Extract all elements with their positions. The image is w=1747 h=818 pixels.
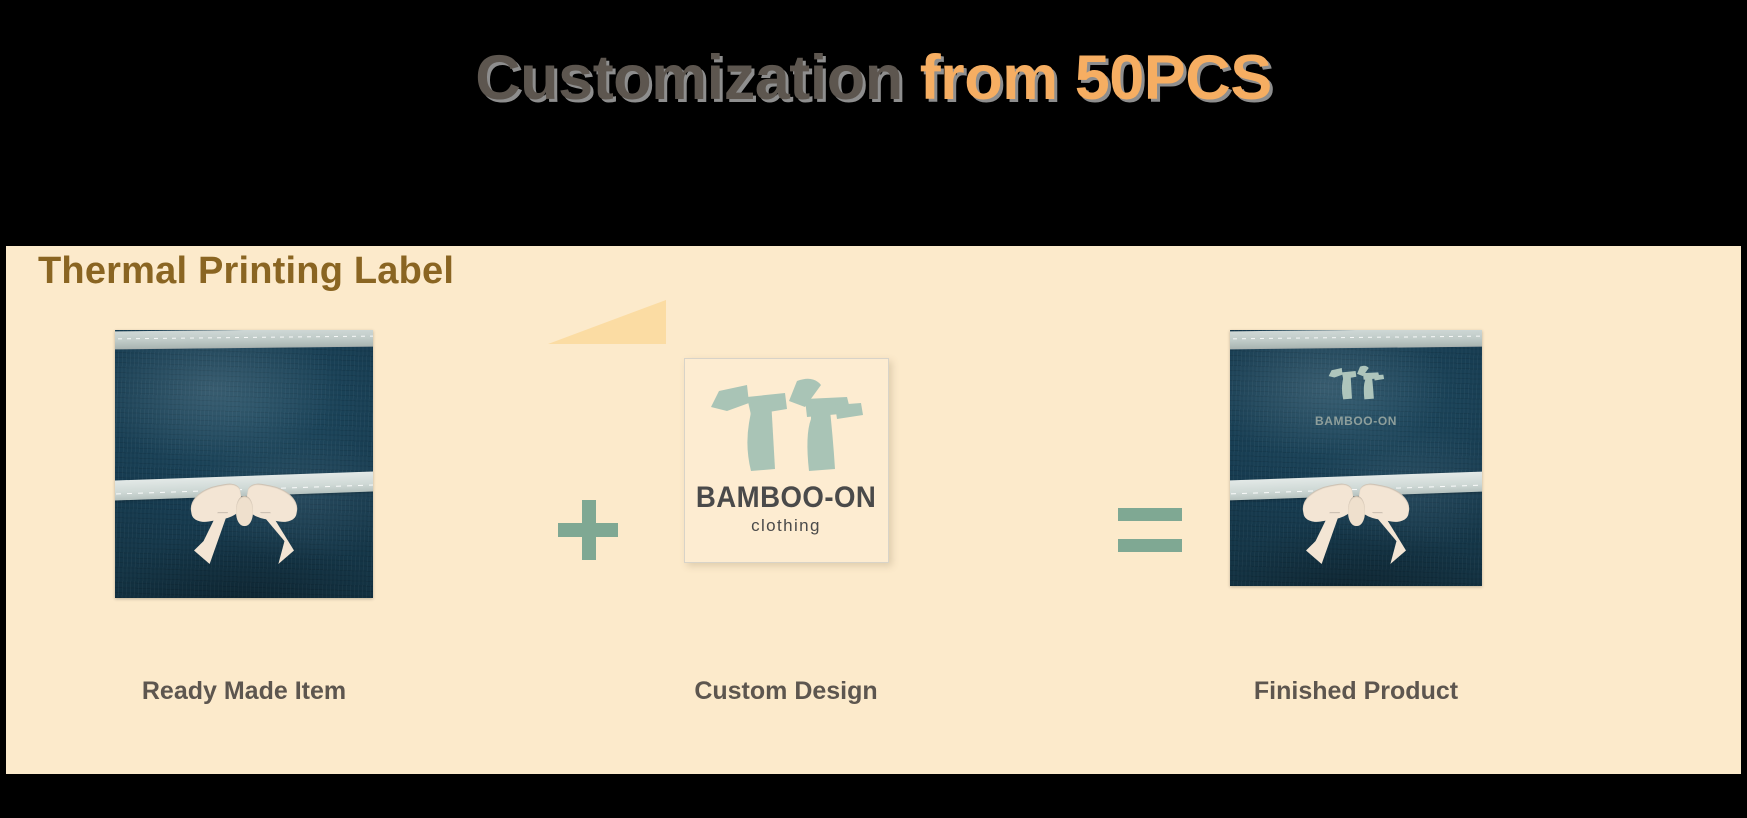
- title-accent: from 50PCS: [903, 43, 1272, 113]
- printed-brand-name: BAMBOO-ON: [1315, 414, 1397, 428]
- section-title: Thermal Printing Label: [38, 250, 454, 293]
- step-caption: Ready Made Item: [94, 677, 394, 706]
- bow-knot: [236, 496, 253, 526]
- custom-design-logo-card: BAMBOO-ON clothing: [684, 358, 889, 563]
- ready-made-item-image: [115, 330, 373, 598]
- process-step-custom-design: BAMBOO-ON clothing Custom Design: [636, 330, 936, 720]
- bow-knot: [1348, 496, 1365, 526]
- top-waistband: [1230, 330, 1482, 349]
- top-waistband: [115, 330, 373, 349]
- brand-name: BAMBOO-ON: [696, 481, 876, 515]
- title-primary: Customization: [475, 43, 903, 113]
- printed-bamboo-icon: [1325, 360, 1387, 406]
- banner-root: Customization from 50PCS Thermal Printin…: [0, 0, 1747, 818]
- step-caption: Custom Design: [636, 677, 936, 706]
- page-title: Customization from 50PCS: [475, 42, 1272, 114]
- bamboo-logo-icon: [701, 371, 871, 481]
- bow-decoration: [184, 482, 304, 572]
- process-step-finished-product: BAMBOO-ON Finished Product: [1206, 330, 1506, 720]
- brand-tagline: clothing: [751, 516, 821, 536]
- process-row: Ready Made Item BAMBOO-ON clot: [6, 330, 1741, 720]
- bow-decoration: [1296, 482, 1416, 572]
- process-step-ready-made: Ready Made Item: [94, 330, 394, 720]
- step-caption: Finished Product: [1206, 677, 1506, 706]
- finished-product-image: BAMBOO-ON: [1230, 330, 1482, 586]
- hero-section: Customization from 50PCS: [0, 0, 1747, 245]
